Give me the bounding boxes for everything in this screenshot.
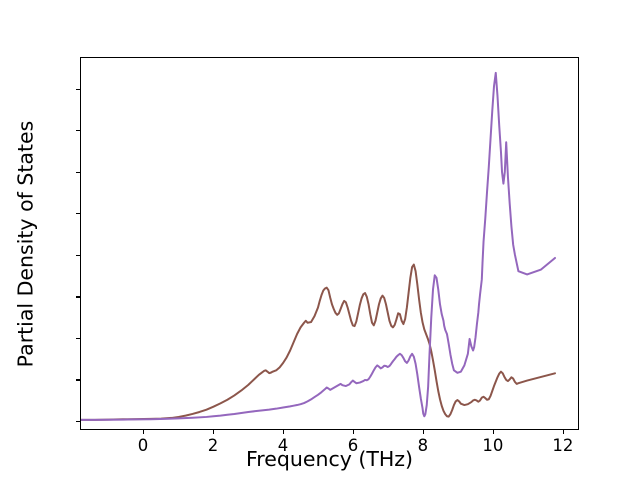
- x-tick-mark: [283, 430, 284, 434]
- x-tick-mark: [493, 430, 494, 434]
- y-tick-mark: [76, 296, 80, 297]
- x-tick-mark: [353, 430, 354, 434]
- y-tick-mark: [76, 213, 80, 214]
- x-tick-mark: [563, 430, 564, 434]
- plot-lines: [81, 58, 578, 429]
- y-tick-mark: [76, 338, 80, 339]
- matplotlib-figure: Partial Density of States 0.000.250.500.…: [0, 0, 640, 480]
- y-tick-mark: [76, 379, 80, 380]
- x-axis-label: Frequency (THz): [80, 447, 579, 471]
- x-tick-mark: [213, 430, 214, 434]
- y-tick-mark: [76, 255, 80, 256]
- y-tick-mark: [76, 421, 80, 422]
- series-purple: [81, 73, 555, 420]
- y-tick-mark: [76, 172, 80, 173]
- y-axis-label: Partial Density of States: [9, 58, 43, 431]
- y-tick-mark: [76, 130, 80, 131]
- y-tick-mark: [76, 89, 80, 90]
- x-tick-mark: [143, 430, 144, 434]
- x-tick-mark: [423, 430, 424, 434]
- series-brown: [81, 265, 555, 420]
- plot-area: [80, 57, 579, 430]
